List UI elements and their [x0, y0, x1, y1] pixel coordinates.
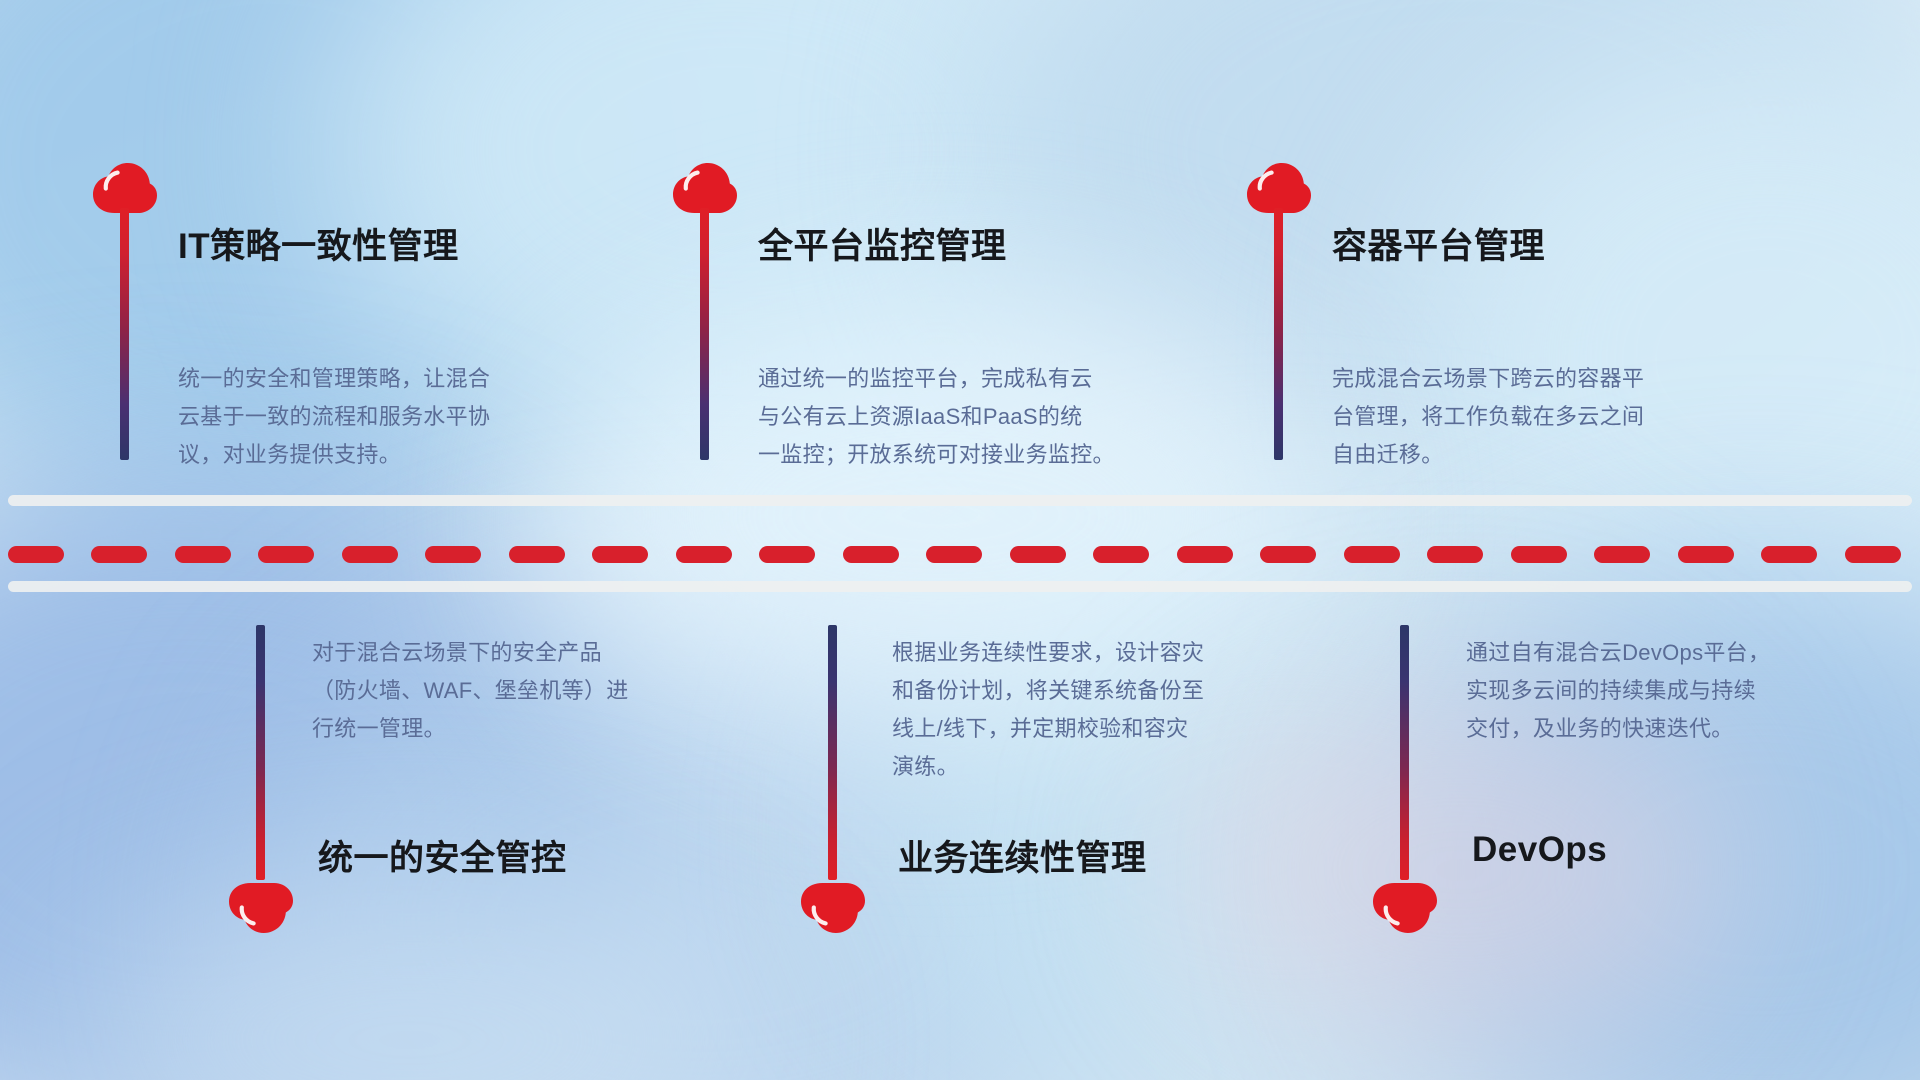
- connector-stem: [700, 208, 709, 460]
- connector-stem: [120, 208, 129, 460]
- divider-dash: [592, 546, 648, 563]
- divider-dash: [509, 546, 565, 563]
- card-title: 统一的安全管控: [318, 830, 567, 881]
- connector-stem: [828, 625, 837, 880]
- card-description: 完成混合云场景下跨云的容器平 台管理，将工作负载在多云之间 自由迁移。: [1332, 360, 1762, 474]
- card-description: 通过统一的监控平台，完成私有云 与公有云上资源IaaS和PaaS的统 一监控；开…: [758, 360, 1208, 474]
- cloud-icon: [1372, 882, 1438, 934]
- cloud-icon: [800, 882, 866, 934]
- cloud-icon: [1246, 162, 1312, 214]
- divider-dash: [843, 546, 899, 563]
- card-description: 根据业务连续性要求，设计容灾 和备份计划，将关键系统备份至 线上/线下，并定期校…: [892, 634, 1332, 786]
- divider-dash: [1010, 546, 1066, 563]
- card-title: DevOps: [1472, 830, 1607, 870]
- divider-dash: [1845, 546, 1901, 563]
- infographic-canvas: IT策略一致性管理 统一的安全和管理策略，让混合 云基于一致的流程和服务水平协 …: [0, 0, 1920, 1080]
- divider-dash: [1594, 546, 1650, 563]
- divider-dash: [676, 546, 732, 563]
- cloud-icon: [228, 882, 294, 934]
- card-title: 全平台监控管理: [758, 218, 1007, 269]
- divider-dash: [759, 546, 815, 563]
- connector-stem: [1274, 208, 1283, 460]
- divider-dash: [91, 546, 147, 563]
- card-description: 通过自有混合云DevOps平台， 实现多云间的持续集成与持续 交付，及业务的快速…: [1466, 634, 1896, 748]
- cloud-icon: [92, 162, 158, 214]
- divider-dashed-line: [0, 546, 1920, 564]
- divider-dash: [1344, 546, 1400, 563]
- divider-line-lower: [8, 581, 1912, 592]
- divider-dash: [1177, 546, 1233, 563]
- divider-line-upper: [8, 495, 1912, 506]
- divider-dash: [1761, 546, 1817, 563]
- divider-dash: [425, 546, 481, 563]
- divider-dash: [258, 546, 314, 563]
- card-description: 对于混合云场景下的安全产品 （防火墙、WAF、堡垒机等）进 行统一管理。: [312, 634, 742, 748]
- divider-dash: [1427, 546, 1483, 563]
- card-title: 业务连续性管理: [898, 830, 1147, 881]
- divider-dash: [1511, 546, 1567, 563]
- connector-stem: [1400, 625, 1409, 880]
- divider-dash: [175, 546, 231, 563]
- card-description: 统一的安全和管理策略，让混合 云基于一致的流程和服务水平协 议，对业务提供支持。: [178, 360, 608, 474]
- card-title: 容器平台管理: [1332, 218, 1545, 269]
- divider-dash: [342, 546, 398, 563]
- divider-dash: [8, 546, 64, 563]
- divider-dash: [926, 546, 982, 563]
- divider-dash: [1093, 546, 1149, 563]
- divider-dash: [1260, 546, 1316, 563]
- cloud-icon: [672, 162, 738, 214]
- divider-dash: [1678, 546, 1734, 563]
- card-title: IT策略一致性管理: [178, 218, 459, 269]
- connector-stem: [256, 625, 265, 880]
